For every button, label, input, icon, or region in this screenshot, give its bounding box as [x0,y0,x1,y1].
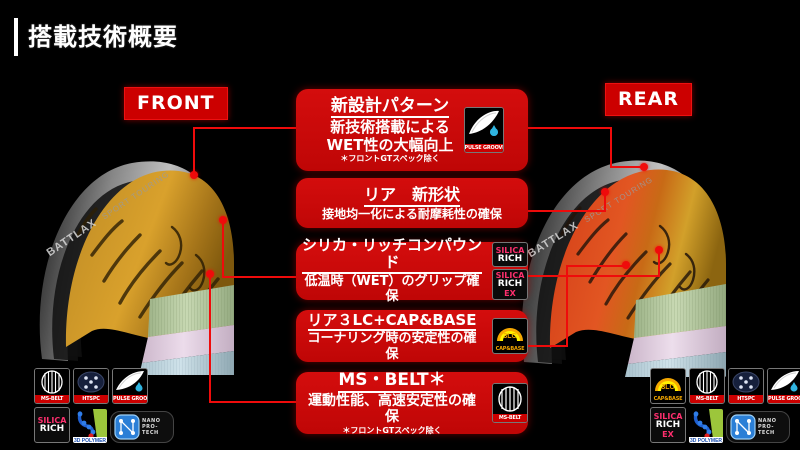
ms-belt-label-front: MS-BELT [35,395,69,403]
ms-belt-icon-rear: MS-BELT [689,368,725,404]
title-accent-bar [14,18,18,56]
3d-polymer-icon-rear: 3D POLYMER [689,409,723,443]
leader-line-r2-h [528,210,606,212]
silica-rich-ex-line2: RICH [498,280,522,289]
3lc-cap-base-icon-rear: 3LC CAP&BASE [650,368,686,404]
rear-badge-row-1: 3LC CAP&BASE MS-BELT [650,368,800,404]
leader-line-r4-h2 [566,265,626,267]
htspc-label-front: HTSPC [74,395,108,403]
silica-rich-line2: RICH [498,255,522,264]
nano-pro-tech-icon-front: NANO PRO- TECH [110,411,174,443]
3lc-cap-base-label: CAP&BASE [493,345,527,353]
slide-canvas: 搭載技術概要 [0,0,800,450]
pulse-groove-icon-front: PULSE GROOVE [112,368,148,404]
front-badge-row-2: SILICA RICH 3D POLYMER [34,407,174,443]
callout-title-2: リア 新形状 [364,186,460,206]
ms-belt-label: MS-BELT [493,414,527,422]
nano-pro-tech-icon-rear: NANO PRO- TECH [726,411,790,443]
leader-line-r3-h [528,275,660,277]
silica-rich-ex-rear-line2: RICH [656,421,680,430]
rear-tire-cutaway: BATTLAX SPORT TOURING [500,132,800,377]
callout-ms-belt[interactable]: MS・BELT＊ 運動性能、高速安定性の確保 ＊フロントGTスペック除く MS-… [296,372,528,434]
callout-line1-4: コーナリング時の安定性の確保 [302,331,482,362]
silica-rich-front-line2: RICH [40,425,64,434]
svg-text:3LC: 3LC [661,384,674,391]
leader-dot-front-tread [190,171,198,179]
ms-belt-icon: MS-BELT [492,383,528,423]
pulse-groove-icon-rear: PULSE GROOVE [767,368,800,404]
front-label: FRONT [124,87,228,120]
front-tire-cutaway: BATTLAX SPORT TOURING [20,135,310,375]
silica-rich-icon-front: SILICA RICH [34,407,70,443]
3lc-cap-base-icon: 3LC CAP&BASE [492,318,528,354]
leader-line-r1-h1 [528,127,612,129]
rear-badge-row-2: SILICA RICH EX 3D POLYMER [650,407,800,443]
nano-pro-tech-text-front: NANO PRO- TECH [142,418,161,436]
leader-line-5-v [209,274,211,403]
leader-line-r4-h [528,345,568,347]
callout-icons-5: MS-BELT [492,383,528,423]
svg-text:3D POLYMER: 3D POLYMER [74,438,106,443]
3lc-cap-base-label-rear: CAP&BASE [651,395,685,403]
callout-icons-1: PULSE GROOVE [464,107,504,153]
leader-line-r1-v [610,127,612,167]
callout-title-4: リア３LC+CAP&BASE [308,312,477,331]
callout-title-3: シリカ・リッチコンパウンド [302,237,482,274]
leader-dot-front-compound [219,216,227,224]
leader-dot-rear-tread [640,163,648,171]
front-technology-badges: MS-BELT HTSPC [34,368,174,443]
leader-dot-front-belt [206,270,214,278]
leader-dot-rear-shape [601,188,609,196]
callout-line1-5: 運動性能、高速安定性の確保 [302,393,482,427]
callout-new-pattern[interactable]: 新設計パターン 新技術搭載による WET性の大幅向上 ＊フロントGTスペック除く… [296,89,528,171]
rear-technology-badges: 3LC CAP&BASE MS-BELT [650,368,800,443]
front-badge-row-1: MS-BELT HTSPC [34,368,174,404]
pulse-groove-label-front: PULSE GROOVE [113,395,147,403]
leader-dot-rear-belt [655,246,663,254]
leader-line-5-h [209,401,297,403]
callout-rear-new-shape[interactable]: リア 新形状 接地均一化による耐摩耗性の確保 [296,178,528,228]
callout-title-5: MS・BELT＊ [338,371,445,393]
callout-title-1: 新設計パターン [331,97,449,119]
callout-note-1: ＊フロントGTスペック除く [326,154,453,164]
htspc-icon-rear: HTSPC [728,368,764,404]
leader-line-1-v [193,127,195,174]
3d-polymer-icon-front: 3D POLYMER [73,409,107,443]
callout-text-2: リア 新形状 接地均一化による耐摩耗性の確保 [316,185,508,221]
callout-note-5: ＊フロントGTスペック除く [302,426,482,436]
callout-text-4: リア３LC+CAP&BASE コーナリング時の安定性の確保 [296,310,488,362]
callout-line1-2: 接地均一化による耐摩耗性の確保 [322,207,502,221]
htspc-label-rear: HTSPC [729,395,763,403]
silica-rich-ex-rear-line3: EX [662,430,674,439]
rear-label: REAR [605,83,692,116]
callout-line1-3: 低温時（WET）のグリップ確保 [302,274,482,305]
page-title: 搭載技術概要 [28,20,178,54]
pulse-groove-label-rear: PULSE GROOVE [768,395,800,403]
htspc-icon-front: HTSPC [73,368,109,404]
leader-line-3-v [222,220,224,278]
silica-rich-ex-line3: EX [504,289,516,298]
svg-text:3LC: 3LC [503,333,516,340]
silica-rich-ex-icon: SILICA RICH EX [492,269,528,300]
leader-line-r4-v [566,265,568,347]
callout-text-3: シリカ・リッチコンパウンド 低温時（WET）のグリップ確保 [296,237,488,305]
callout-line1-1: 新技術搭載による [326,118,453,136]
callout-rear-3lc-cap-base[interactable]: リア３LC+CAP&BASE コーナリング時の安定性の確保 3LC CAP&BA… [296,310,528,362]
leader-line-r3-v [658,252,660,277]
leader-line-3-h [222,276,297,278]
ms-belt-icon-front: MS-BELT [34,368,70,404]
callout-icons-3: SILICA RICH SILICA RICH EX [492,242,528,300]
leader-line-1-h [193,127,297,129]
callout-text-1: 新設計パターン 新技術搭載による WET性の大幅向上 ＊フロントGTスペック除く [320,96,459,164]
silica-rich-icon: SILICA RICH [492,242,528,267]
ms-belt-label-rear: MS-BELT [690,395,724,403]
pulse-groove-label: PULSE GROOVE [465,144,503,152]
silica-rich-ex-icon-rear: SILICA RICH EX [650,407,686,443]
callout-icons-4: 3LC CAP&BASE [492,318,528,354]
callout-silica-rich-compound[interactable]: シリカ・リッチコンパウンド 低温時（WET）のグリップ確保 SILICA RIC… [296,242,528,300]
nano-line3-front: TECH [142,430,161,436]
nano-line3-rear: TECH [758,430,777,436]
callout-text-5: MS・BELT＊ 運動性能、高速安定性の確保 ＊フロントGTスペック除く [296,370,488,436]
leader-dot-rear-3lc [622,261,630,269]
svg-text:3D POLYMER: 3D POLYMER [690,438,722,443]
nano-pro-tech-text-rear: NANO PRO- TECH [758,418,777,436]
pulse-groove-icon: PULSE GROOVE [464,107,504,153]
callout-line2-1: WET性の大幅向上 [326,136,453,154]
